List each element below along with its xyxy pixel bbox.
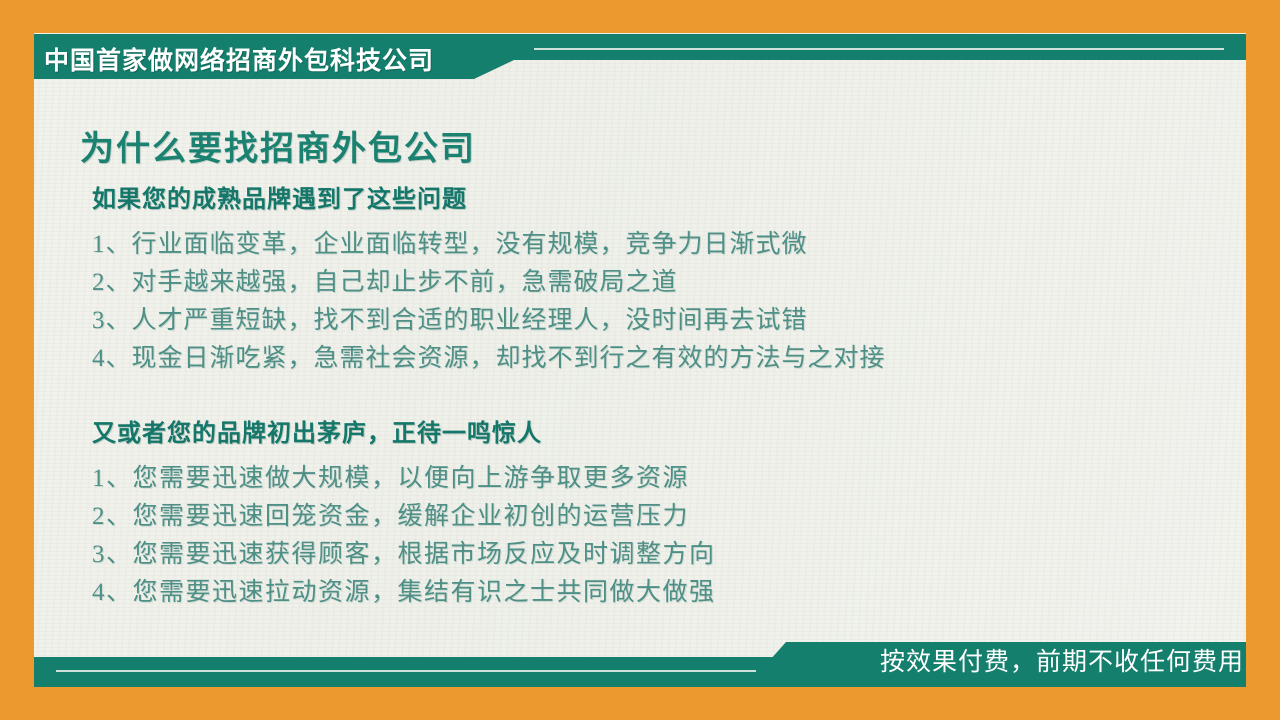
- section-mature-brand: 如果您的成熟品牌遇到了这些问题 1、行业面临变革，企业面临转型，没有规模，竞争力…: [92, 179, 886, 378]
- list-item: 2、对手越来越强，自己却止步不前，急需破局之道: [92, 264, 886, 302]
- slide-root: 中国首家做网络招商外包科技公司 为什么要找招商外包公司 如果您的成熟品牌遇到了这…: [0, 0, 1280, 720]
- header-title: 中国首家做网络招商外包科技公司: [44, 41, 434, 77]
- section-list: 1、行业面临变革，企业面临转型，没有规模，竞争力日渐式微 2、对手越来越强，自己…: [92, 226, 886, 378]
- list-item: 1、行业面临变革，企业面临转型，没有规模，竞争力日渐式微: [92, 226, 886, 264]
- list-item: 1、您需要迅速做大规模，以便向上游争取更多资源: [92, 460, 716, 498]
- list-item: 4、您需要迅速拉动资源，集结有识之士共同做大做强: [92, 574, 716, 612]
- section-heading: 如果您的成熟品牌遇到了这些问题: [92, 179, 886, 214]
- list-item: 4、现金日渐吃紧，急需社会资源，却找不到行之有效的方法与之对接: [92, 340, 886, 378]
- page-title: 为什么要找招商外包公司: [80, 121, 476, 170]
- list-item: 3、您需要迅速获得顾客，根据市场反应及时调整方向: [92, 536, 716, 574]
- slide-content: 为什么要找招商外包公司 如果您的成熟品牌遇到了这些问题 1、行业面临变革，企业面…: [34, 79, 1246, 630]
- list-item: 3、人才严重短缺，找不到合适的职业经理人，没时间再去试错: [92, 302, 886, 340]
- section-list: 1、您需要迅速做大规模，以便向上游争取更多资源 2、您需要迅速回笼资金，缓解企业…: [92, 460, 716, 612]
- list-item: 2、您需要迅速回笼资金，缓解企业初创的运营压力: [92, 498, 716, 536]
- footer-tagline: 按效果付费，前期不收任何费用: [880, 642, 1244, 678]
- section-heading: 又或者您的品牌初出茅庐，正待一鸣惊人: [92, 413, 716, 448]
- section-new-brand: 又或者您的品牌初出茅庐，正待一鸣惊人 1、您需要迅速做大规模，以便向上游争取更多…: [92, 413, 716, 612]
